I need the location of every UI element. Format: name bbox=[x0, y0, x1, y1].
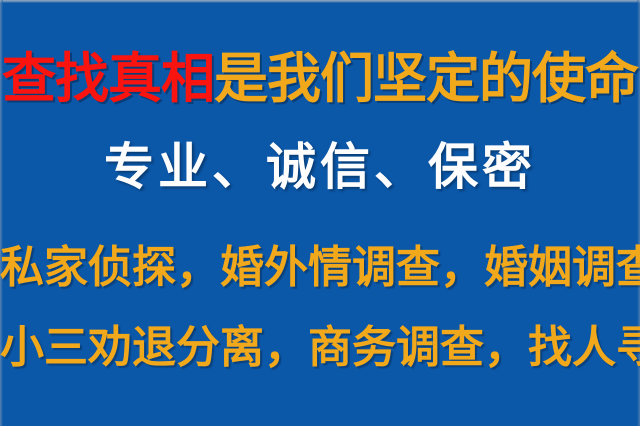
top-edge-highlight bbox=[0, 0, 640, 3]
service-list-line-1: 私家侦探，婚外情调查，婚姻调查， bbox=[0, 246, 640, 290]
headline: 查找真相是我们坚定的使命 bbox=[0, 52, 640, 106]
headline-rest-text: 是我们坚定的使命 bbox=[214, 47, 638, 110]
advertisement-banner: 查找真相是我们坚定的使命 专业、诚信、保密 私家侦探，婚外情调查，婚姻调查， 小… bbox=[0, 0, 640, 426]
subheadline: 专业、诚信、保密 bbox=[0, 142, 640, 192]
service-list-line-2: 小三劝退分离，商务调查，找人寻人 bbox=[0, 326, 640, 370]
headline-emphasis-text: 查找真相 bbox=[2, 47, 214, 110]
